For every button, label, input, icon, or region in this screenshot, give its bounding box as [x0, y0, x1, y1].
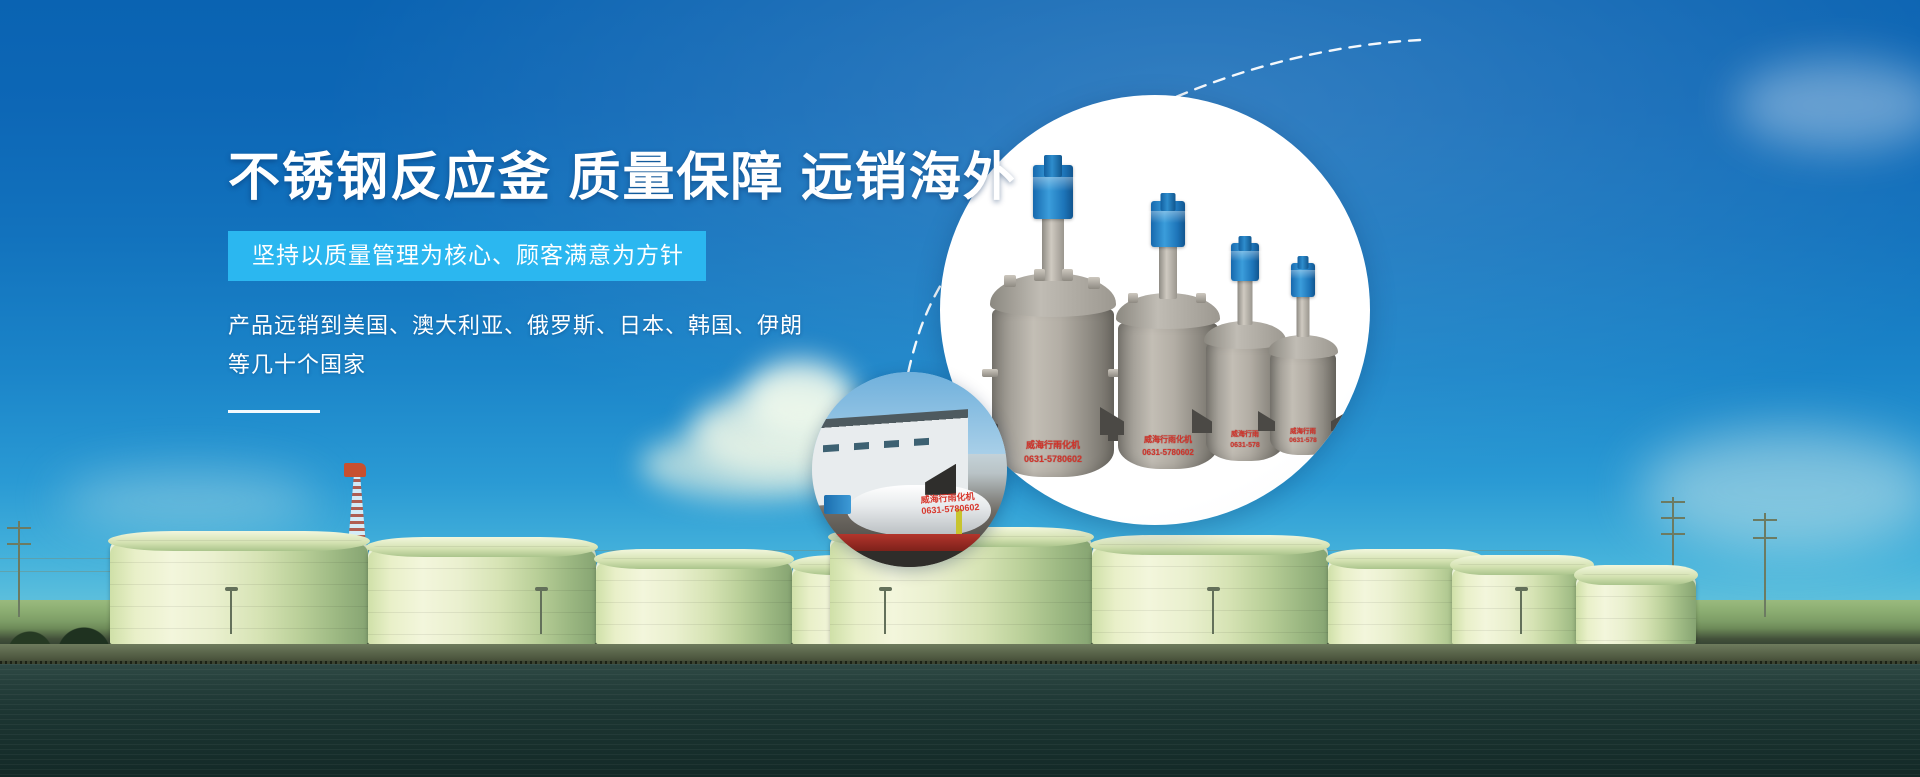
reactor-watermark-phone: 0631-578 — [1230, 442, 1260, 449]
reactor-vessel: 威海行雨化机 0631-5780602 — [992, 167, 1114, 477]
reactor-watermark-phone: 0631-578 — [1289, 437, 1316, 444]
storage-tank — [1452, 564, 1592, 644]
pylon — [1764, 513, 1766, 617]
storage-tank — [368, 546, 596, 644]
cloud-icon — [1640, 430, 1920, 550]
hero-banner: 威海行雨化机 0631-5780602 威海行雨化机 0631-5780602 — [0, 0, 1920, 777]
transport-truck — [824, 534, 980, 552]
vessel-motor — [824, 495, 851, 515]
reactor-watermark-brand: 威海行雨化机 — [1144, 434, 1192, 445]
reactor-watermark-phone: 0631-5780602 — [1142, 448, 1194, 457]
reactor-watermark-brand: 威海行雨 — [1290, 425, 1316, 435]
street-lamp — [1520, 590, 1522, 634]
description-line-1: 产品远销到美国、澳大利亚、俄罗斯、日本、韩国、伊朗 — [228, 307, 948, 346]
storage-tank — [1576, 574, 1696, 644]
storage-tank — [596, 558, 792, 644]
banner-headline: 不锈钢反应釜 质量保障 远销海外 — [228, 150, 948, 207]
storage-tank — [110, 540, 368, 644]
reactor-watermark-brand: 威海行雨 — [1231, 429, 1259, 439]
banner-description: 产品远销到美国、澳大利亚、俄罗斯、日本、韩国、伊朗 等几十个国家 — [228, 307, 948, 384]
banner-subtitle-bar: 坚持以质量管理为核心、顾客满意为方针 — [228, 231, 706, 281]
pylon — [18, 521, 20, 617]
mast-flag — [344, 463, 366, 477]
storage-tank — [1092, 544, 1328, 644]
street-lamp — [230, 590, 232, 634]
banner-copy: 不锈钢反应釜 质量保障 远销海外 坚持以质量管理为核心、顾客满意为方针 产品远销… — [228, 150, 948, 413]
street-lamp — [540, 590, 542, 634]
cloud-icon — [1735, 60, 1920, 150]
inset-watermark: 威海行雨化机 0631-5780602 — [921, 491, 980, 517]
street-lamp — [1212, 590, 1214, 634]
divider-rule — [228, 410, 320, 413]
water-surface — [0, 664, 1920, 777]
description-line-2: 等几十个国家 — [228, 346, 948, 385]
street-lamp — [884, 590, 886, 634]
inset-ground — [812, 551, 1007, 567]
reactor-vessel: 威海行雨 0631-578 — [1270, 249, 1336, 455]
cloud-icon — [60, 470, 320, 530]
reactor-watermark-brand: 威海行雨化机 — [1026, 438, 1080, 451]
reactor-watermark-phone: 0631-5780602 — [1024, 454, 1082, 464]
